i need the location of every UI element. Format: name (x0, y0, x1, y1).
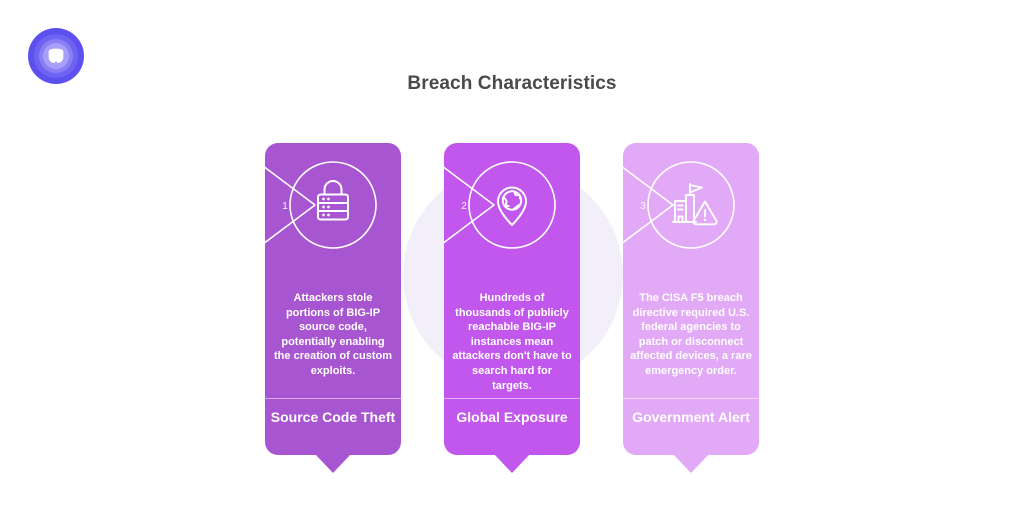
card-pointer (673, 454, 709, 473)
card-title: Global Exposure (448, 408, 576, 427)
card-icon-area: 3 (623, 143, 759, 268)
card-icon-area: 1 (265, 143, 401, 268)
card-divider (623, 398, 759, 399)
card-number: 1 (274, 201, 296, 212)
card-pointer (315, 454, 351, 473)
card-divider (444, 398, 580, 399)
card-divider (265, 398, 401, 399)
card-number: 3 (632, 201, 654, 212)
card-body: 3 The CISA F5 breach directive required … (623, 143, 759, 455)
card-global-exposure[interactable]: 2 Hundreds of thousands of publicly reac… (444, 143, 580, 455)
card-title: Source Code Theft (269, 408, 397, 427)
card-source-code-theft[interactable]: 1 Attackers stole portions of BIG-IP sou… (265, 143, 401, 455)
card-description: The CISA F5 breach directive required U.… (630, 291, 752, 379)
card-description: Hundreds of thousands of publicly reacha… (451, 291, 573, 393)
card-government-alert[interactable]: 3 The CISA F5 breach directive required … (623, 143, 759, 455)
card-number: 2 (453, 201, 475, 212)
card-icon-area: 2 (444, 143, 580, 268)
card-body: 1 Attackers stole portions of BIG-IP sou… (265, 143, 401, 455)
card-description: Attackers stole portions of BIG-IP sourc… (272, 291, 394, 379)
card-title: Government Alert (627, 408, 755, 427)
card-pointer (494, 454, 530, 473)
cards-container: 1 Attackers stole portions of BIG-IP sou… (0, 0, 1024, 512)
card-body: 2 Hundreds of thousands of publicly reac… (444, 143, 580, 455)
